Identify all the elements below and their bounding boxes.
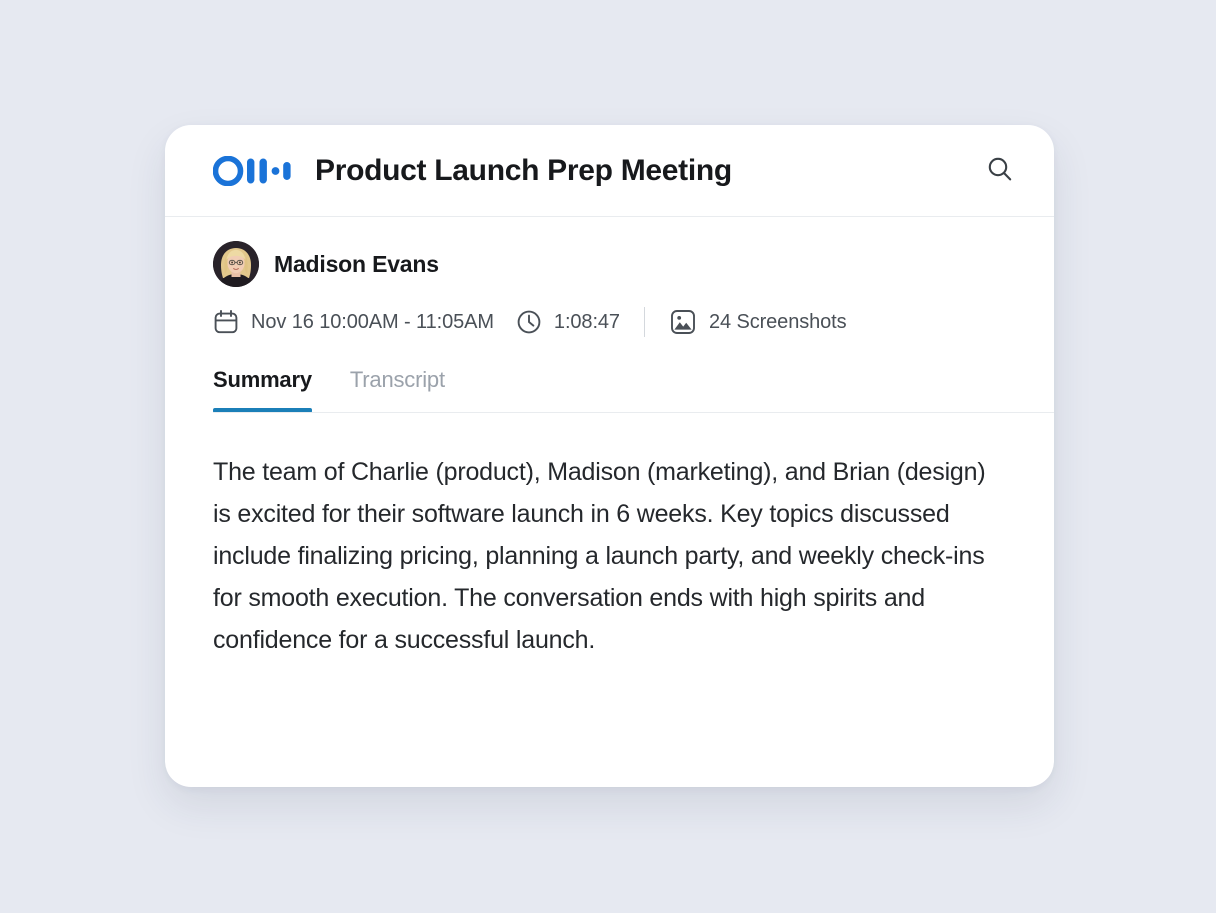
owner-name: Madison Evans xyxy=(274,251,439,278)
card-header: Product Launch Prep Meeting xyxy=(165,125,1054,217)
card-body: Madison Evans Nov 16 10:00AM - 11:05AM xyxy=(165,217,1054,661)
tab-transcript-label: Transcript xyxy=(350,367,445,392)
tab-transcript[interactable]: Transcript xyxy=(350,367,445,413)
meeting-duration: 1:08:47 xyxy=(516,309,620,335)
summary-text: The team of Charlie (product), Madison (… xyxy=(213,451,1003,661)
meeting-screenshots-text: 24 Screenshots xyxy=(709,311,847,334)
search-button[interactable] xyxy=(980,151,1020,191)
tab-list: Summary Transcript xyxy=(213,367,1006,413)
tabs-container: Summary Transcript xyxy=(165,367,1054,413)
owner-row: Madison Evans xyxy=(213,217,1006,287)
meta-divider xyxy=(644,307,645,337)
meeting-duration-text: 1:08:47 xyxy=(554,311,620,334)
meeting-card: Product Launch Prep Meeting xyxy=(165,125,1054,787)
search-icon xyxy=(985,154,1015,187)
tab-summary-label: Summary xyxy=(213,367,312,392)
app-root: Product Launch Prep Meeting xyxy=(0,0,1216,913)
meeting-date: Nov 16 10:00AM - 11:05AM xyxy=(213,309,494,335)
meeting-meta: Nov 16 10:00AM - 11:05AM 1:08:47 xyxy=(213,307,1006,337)
calendar-icon xyxy=(213,309,239,335)
user-avatar[interactable] xyxy=(213,241,259,287)
clock-icon xyxy=(516,309,542,335)
image-icon xyxy=(669,308,697,336)
tab-summary[interactable]: Summary xyxy=(213,367,312,413)
page-title: Product Launch Prep Meeting xyxy=(315,154,980,188)
tabs-divider xyxy=(213,412,1054,413)
otter-ai-logo[interactable] xyxy=(213,156,291,186)
meeting-date-text: Nov 16 10:00AM - 11:05AM xyxy=(251,311,494,334)
meeting-screenshots: 24 Screenshots xyxy=(669,308,847,336)
